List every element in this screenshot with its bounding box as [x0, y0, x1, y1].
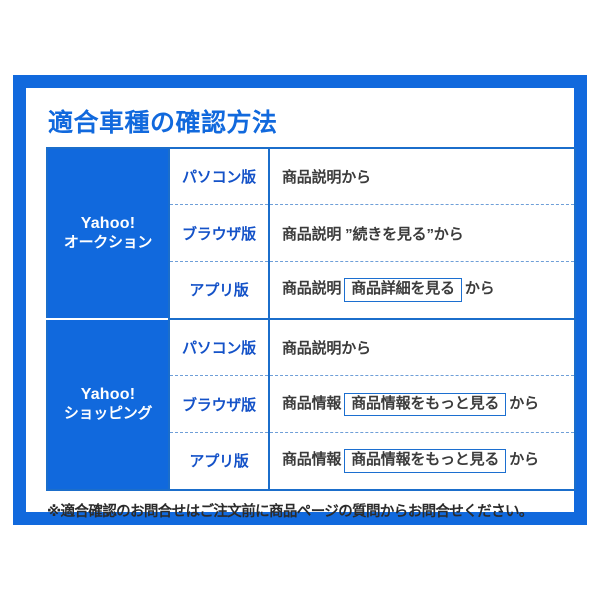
howto-suffix: から [465, 280, 495, 297]
banner-inner-panel: 適合車種の確認方法 Yahoo! オークション パソコン版 商品説明から [26, 88, 574, 512]
brand-label-line1: Yahoo! [48, 215, 168, 234]
compatibility-check-table: Yahoo! オークション パソコン版 商品説明から ブラウザ版 商品説明 ”続… [46, 147, 576, 491]
brand-cell-auction: Yahoo! オークション [47, 148, 169, 319]
table-row: Yahoo! ショッピング パソコン版 商品説明から [47, 319, 575, 376]
device-label: アプリ版 [169, 433, 269, 490]
device-label: ブラウザ版 [169, 376, 269, 433]
brand-label-line2: ショッピング [48, 405, 168, 423]
info-banner: 適合車種の確認方法 Yahoo! オークション パソコン版 商品説明から [13, 75, 587, 525]
howto-cell: 商品説明商品詳細を見るから [269, 262, 575, 319]
ui-chip-button[interactable]: 商品情報をもっと見る [344, 393, 506, 417]
device-label: パソコン版 [169, 319, 269, 376]
device-label: パソコン版 [169, 148, 269, 205]
howto-cell: 商品情報商品情報をもっと見るから [269, 433, 575, 490]
brand-cell-shopping: Yahoo! ショッピング [47, 319, 169, 490]
brand-label-line2: オークション [48, 234, 168, 252]
footer-note: ※適合確認のお問合せはご注文前に商品ページの質問からお問合せください。 [47, 500, 556, 521]
howto-prefix: 商品説明 [282, 280, 341, 297]
table-body: Yahoo! オークション パソコン版 商品説明から ブラウザ版 商品説明 ”続… [47, 148, 575, 490]
page-title: 適合車種の確認方法 [48, 110, 556, 138]
howto-cell: 商品説明から [269, 148, 575, 205]
device-label: ブラウザ版 [169, 205, 269, 262]
howto-prefix: 商品情報 [282, 395, 341, 412]
howto-suffix: から [509, 451, 539, 468]
brand-label-line1: Yahoo! [48, 386, 168, 405]
howto-cell: 商品情報商品情報をもっと見るから [269, 376, 575, 433]
ui-chip-button[interactable]: 商品詳細を見る [344, 278, 462, 302]
howto-suffix: から [509, 395, 539, 412]
howto-prefix: 商品説明から [282, 169, 371, 186]
table-row: Yahoo! オークション パソコン版 商品説明から [47, 148, 575, 205]
device-label: アプリ版 [169, 262, 269, 319]
howto-prefix: 商品説明 ”続きを見る”から [282, 226, 463, 243]
howto-cell: 商品説明 ”続きを見る”から [269, 205, 575, 262]
ui-chip-button[interactable]: 商品情報をもっと見る [344, 449, 506, 473]
howto-prefix: 商品説明から [282, 340, 371, 357]
howto-prefix: 商品情報 [282, 451, 341, 468]
howto-cell: 商品説明から [269, 319, 575, 376]
